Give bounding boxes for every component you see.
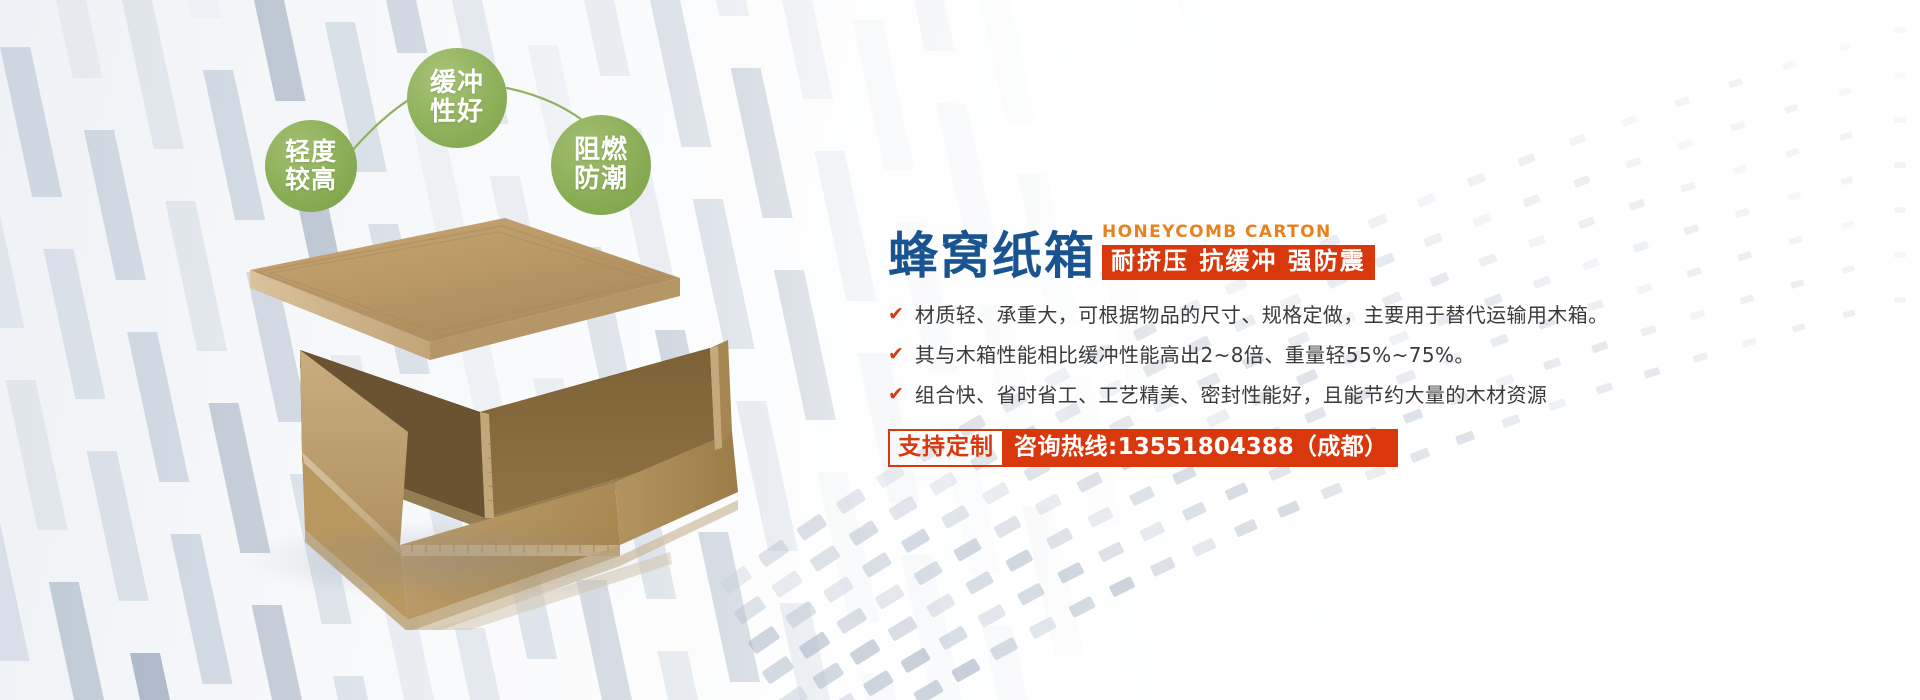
- hotline-label: 咨询热线:: [1014, 434, 1118, 462]
- feature-line-2: 防潮: [574, 164, 628, 194]
- check-icon: ✔: [888, 342, 904, 368]
- feature-circle-label: 阻燃 防潮: [574, 136, 628, 194]
- content-column: 蜂窝纸箱 HONEYCOMB CARTON 耐挤压 抗缓冲 强防震 ✔ 材质轻、…: [888, 222, 1648, 467]
- bullet-text: 组合快、省时省工、工艺精美、密封性能好，且能节约大量的木材资源: [915, 382, 1547, 409]
- hotline-region: （成都）: [1294, 434, 1388, 462]
- page-title: 蜂窝纸箱: [888, 231, 1096, 281]
- feature-line-1: 缓冲: [430, 68, 484, 98]
- feature-circle-light-weight[interactable]: 轻度 较高: [265, 120, 357, 212]
- feature-line-1: 轻度: [285, 137, 337, 166]
- bullet-text: 材质轻、承重大，可根据物品的尺寸、规格定做，主要用于替代运输用木箱。: [915, 302, 1609, 329]
- feature-line-1: 阻燃: [574, 135, 628, 165]
- custom-order-badge: 支持定制: [888, 429, 1004, 468]
- hotline-number: 13551804388: [1118, 434, 1294, 462]
- check-icon: ✔: [888, 302, 904, 328]
- check-icon: ✔: [888, 382, 904, 408]
- tagline-badge: 耐挤压 抗缓冲 强防震: [1102, 245, 1375, 280]
- bullet-text: 其与木箱性能相比缓冲性能高出2~8倍、重量轻55%~75%。: [915, 342, 1475, 369]
- list-item: ✔ 组合快、省时省工、工艺精美、密封性能好，且能节约大量的木材资源: [888, 382, 1648, 409]
- feature-circle-cushioning[interactable]: 缓冲 性好: [407, 48, 507, 148]
- headline-side: HONEYCOMB CARTON 耐挤压 抗缓冲 强防震: [1102, 222, 1375, 281]
- list-item: ✔ 其与木箱性能相比缓冲性能高出2~8倍、重量轻55%~75%。: [888, 342, 1648, 369]
- feature-line-2: 性好: [430, 97, 484, 127]
- product-shadow: [240, 520, 670, 600]
- promo-banner: 轻度 较高 缓冲 性好 阻燃 防潮: [0, 0, 1920, 700]
- feature-bullet-list: ✔ 材质轻、承重大，可根据物品的尺寸、规格定做，主要用于替代运输用木箱。 ✔ 其…: [888, 302, 1648, 409]
- subtitle-english: HONEYCOMB CARTON: [1102, 222, 1375, 242]
- hotline-bar[interactable]: 咨询热线:13551804388（成都）: [1004, 429, 1398, 468]
- feature-circle-label: 缓冲 性好: [430, 69, 484, 127]
- headline-block: 蜂窝纸箱 HONEYCOMB CARTON 耐挤压 抗缓冲 强防震: [888, 222, 1648, 281]
- feature-line-2: 较高: [285, 165, 337, 194]
- list-item: ✔ 材质轻、承重大，可根据物品的尺寸、规格定做，主要用于替代运输用木箱。: [888, 302, 1648, 329]
- contact-bar: 支持定制 咨询热线:13551804388（成都）: [888, 429, 1648, 468]
- feature-circle-label: 轻度 较高: [285, 138, 337, 194]
- product-image: [150, 200, 770, 630]
- carton-lid: [250, 218, 680, 360]
